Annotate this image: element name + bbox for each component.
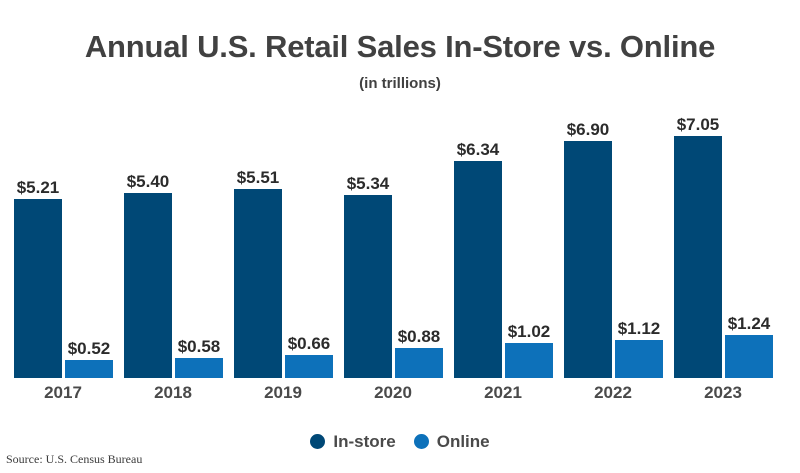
plot-area: $5.21$0.52$5.40$0.58$5.51$0.66$5.34$0.88… xyxy=(0,0,800,378)
bar-value-label-instore-2018: $5.40 xyxy=(116,172,180,191)
legend-label: In-store xyxy=(333,432,395,451)
bar-instore-2020[interactable] xyxy=(344,195,392,378)
x-axis: 2017201820192020202120222023 xyxy=(0,378,800,408)
bar-online-2017[interactable] xyxy=(65,360,113,378)
bar-instore-2022[interactable] xyxy=(564,141,612,378)
bar-value-label-instore-2021: $6.34 xyxy=(446,140,510,159)
x-axis-label-2019: 2019 xyxy=(233,383,333,403)
bar-online-2019[interactable] xyxy=(285,355,333,378)
bar-value-label-instore-2020: $5.34 xyxy=(336,174,400,193)
bar-online-2023[interactable] xyxy=(725,335,773,378)
x-axis-label-2018: 2018 xyxy=(123,383,223,403)
legend-item-in-store[interactable]: In-store xyxy=(310,432,395,451)
legend-label: Online xyxy=(437,432,490,451)
bar-online-2018[interactable] xyxy=(175,358,223,378)
source-note: Source: U.S. Census Bureau xyxy=(6,452,142,467)
bar-value-label-online-2023: $1.24 xyxy=(717,314,781,333)
bar-group: $5.40$0.58 xyxy=(124,0,224,378)
bar-value-label-online-2020: $0.88 xyxy=(387,327,451,346)
bar-value-label-online-2022: $1.12 xyxy=(607,319,671,338)
legend-swatch-icon xyxy=(414,434,429,449)
x-axis-label-2020: 2020 xyxy=(343,383,443,403)
bar-group: $6.90$1.12 xyxy=(564,0,664,378)
legend-swatch-icon xyxy=(310,434,325,449)
bar-group: $5.21$0.52 xyxy=(14,0,114,378)
bar-value-label-online-2017: $0.52 xyxy=(57,339,121,358)
bar-group: $5.34$0.88 xyxy=(344,0,444,378)
bar-value-label-instore-2022: $6.90 xyxy=(556,120,620,139)
bar-value-label-online-2019: $0.66 xyxy=(277,334,341,353)
x-axis-label-2023: 2023 xyxy=(673,383,773,403)
bar-value-label-instore-2019: $5.51 xyxy=(226,168,290,187)
bar-value-label-online-2021: $1.02 xyxy=(497,322,561,341)
chart-legend: In-storeOnline xyxy=(0,432,800,451)
bar-online-2020[interactable] xyxy=(395,348,443,378)
bar-group: $6.34$1.02 xyxy=(454,0,554,378)
bar-instore-2023[interactable] xyxy=(674,136,722,378)
bar-group: $5.51$0.66 xyxy=(234,0,334,378)
x-axis-label-2017: 2017 xyxy=(13,383,113,403)
bar-value-label-online-2018: $0.58 xyxy=(167,337,231,356)
bar-instore-2017[interactable] xyxy=(14,199,62,378)
x-axis-label-2021: 2021 xyxy=(453,383,553,403)
legend-item-online[interactable]: Online xyxy=(414,432,490,451)
bar-value-label-instore-2017: $5.21 xyxy=(6,178,70,197)
bar-instore-2019[interactable] xyxy=(234,189,282,378)
bar-instore-2021[interactable] xyxy=(454,161,502,378)
x-axis-label-2022: 2022 xyxy=(563,383,663,403)
bar-group: $7.05$1.24 xyxy=(674,0,774,378)
bar-value-label-instore-2023: $7.05 xyxy=(666,115,730,134)
bar-instore-2018[interactable] xyxy=(124,193,172,378)
bar-online-2022[interactable] xyxy=(615,340,663,378)
bar-online-2021[interactable] xyxy=(505,343,553,378)
